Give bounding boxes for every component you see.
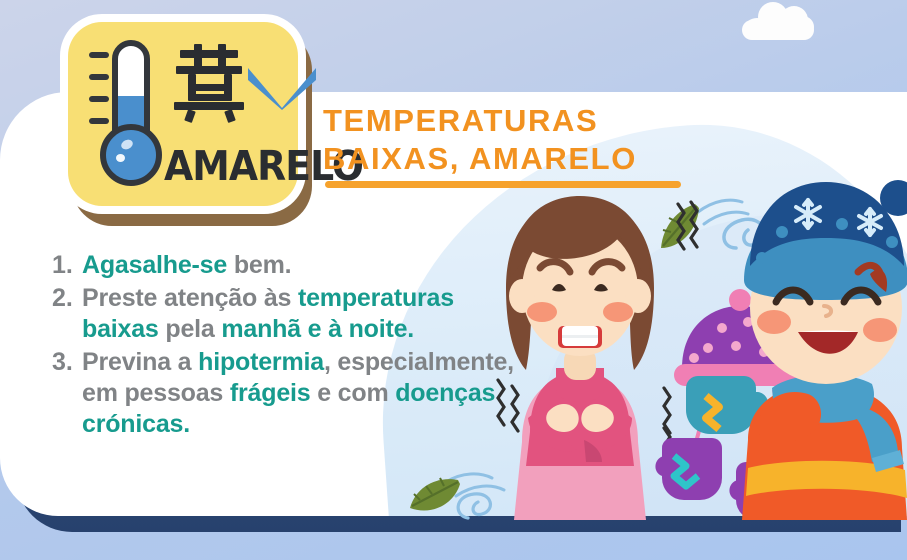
cloud-icon (742, 2, 814, 40)
list-item-plain: bem. (227, 251, 291, 279)
list-item-text: Preste atenção às temperaturas baixas pe… (82, 283, 522, 345)
list-item-plain: pela (159, 315, 222, 343)
poster-canvas: AMARELO TEMPERATURAS BAIXAS, AMARELO 1. … (0, 0, 907, 560)
list-item-text: Previna a hipotermia, especialmente, em … (82, 347, 522, 440)
list-item: 2. Preste atenção às temperaturas baixas… (52, 283, 522, 345)
page-title-line1: TEMPERATURAS (323, 102, 743, 140)
kanji-huang-icon (172, 44, 246, 122)
advice-list: 1. Agasalhe-se bem. 2. Preste atenção às… (52, 250, 522, 442)
list-item-text: Agasalhe-se bem. (82, 250, 291, 281)
page-title: TEMPERATURAS BAIXAS, AMARELO (323, 102, 743, 178)
two-children-winter-illustration (486, 180, 907, 520)
list-item-number: 2. (52, 283, 82, 314)
leaf-icon (406, 474, 462, 522)
thermometer-icon (88, 40, 162, 190)
list-item-highlight: Agasalhe-se (82, 251, 227, 279)
chevron-down-icon (246, 66, 318, 110)
girl-shivering-character (506, 196, 654, 520)
list-item-plain: Preste atenção às (82, 284, 298, 312)
list-item-number: 1. (52, 250, 82, 281)
list-item-plain: Previna a (82, 348, 198, 376)
list-item-number: 3. (52, 347, 82, 378)
list-item-plain: e com (310, 379, 395, 407)
list-item: 1. Agasalhe-se bem. (52, 250, 522, 281)
page-title-line2: BAIXAS, AMARELO (323, 140, 743, 178)
list-item-highlight: manhã e à noite. (221, 315, 414, 343)
list-item-highlight: frágeis (230, 379, 311, 407)
list-item-highlight: hipotermia (198, 348, 324, 376)
boy-warmly-dressed-character (742, 180, 907, 520)
list-item: 3. Previna a hipotermia, especialmente, … (52, 347, 522, 440)
title-underline (325, 181, 681, 188)
alert-level-badge: AMARELO (68, 22, 298, 206)
